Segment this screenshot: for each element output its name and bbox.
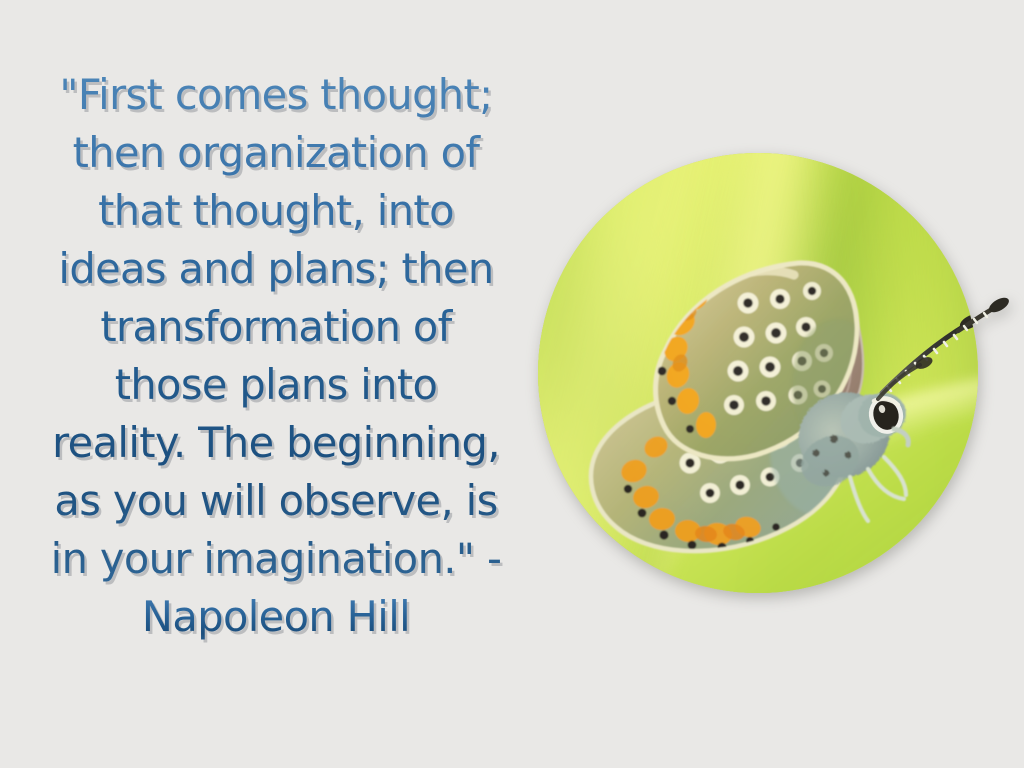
butterfly-antennae: [878, 312, 978, 399]
quote-attribution: Napoleon Hill: [18, 588, 534, 646]
quote-text: "First comes thought; then organization …: [18, 66, 534, 588]
butterfly-illustration: [538, 153, 978, 593]
quote-block: "First comes thought; then organization …: [18, 66, 534, 646]
quote-slide: "First comes thought; then organization …: [0, 0, 1024, 768]
photo-circle-clip: [538, 153, 978, 593]
butterfly-photo: [538, 153, 978, 593]
